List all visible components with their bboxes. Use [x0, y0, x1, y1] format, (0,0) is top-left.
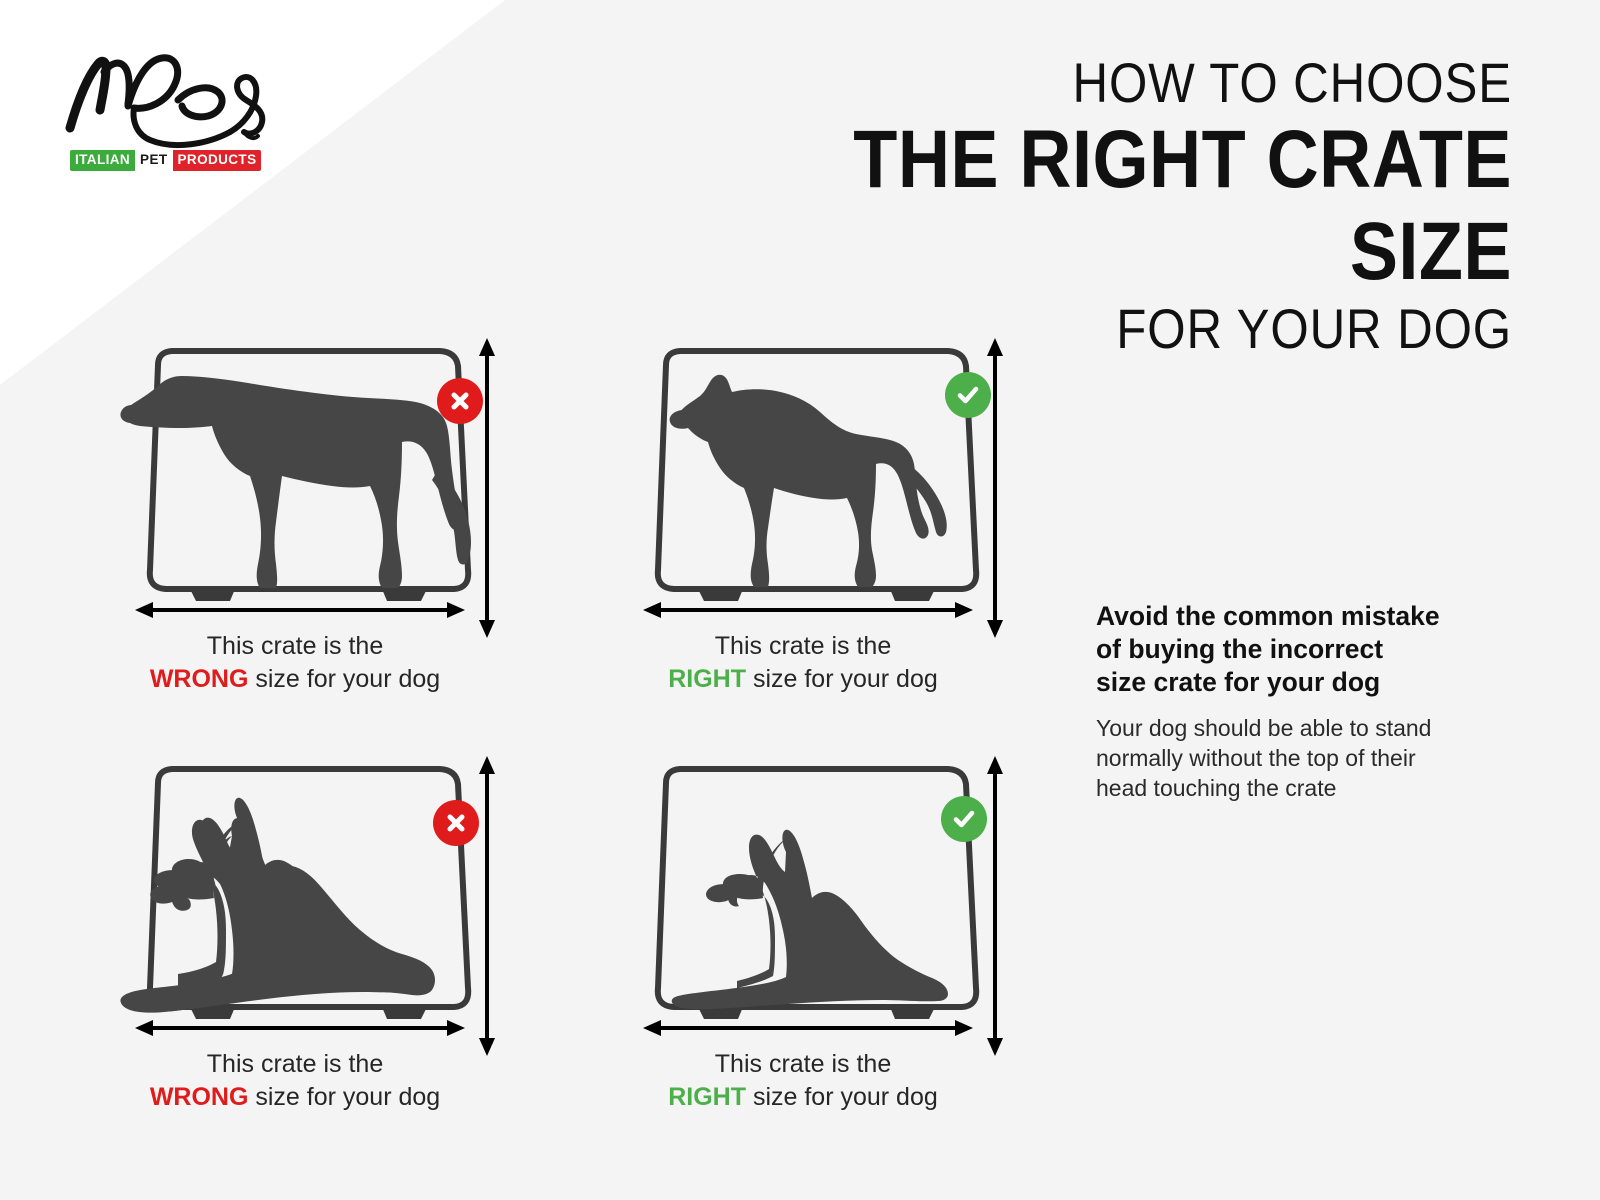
panel-bottom-right: This crate is the RIGHT size for your do…: [628, 748, 1048, 1128]
crate-illustration-bottom-left: [120, 748, 520, 1038]
width-arrow-top-left: [135, 598, 465, 622]
caption-line-1: This crate is the: [207, 632, 383, 660]
info-heading-line-1: Avoid the common mistake: [1096, 601, 1440, 631]
info-block: Avoid the common mistake of buying the i…: [1096, 600, 1526, 803]
dog-silhouette-standing-fits: [670, 375, 947, 587]
caption-bottom-left: This crate is the WRONG size for your do…: [120, 1048, 470, 1114]
crate-illustration-top-left: [120, 330, 520, 620]
caption-rest: size for your dog: [248, 665, 440, 693]
info-body-line-2: normally without the top of their: [1096, 745, 1416, 771]
height-arrow-bottom-left: [475, 756, 499, 1056]
panel-bottom-left: This crate is the WRONG size for your do…: [120, 748, 540, 1128]
height-arrow-bottom-right: [983, 756, 1007, 1056]
info-body-line-1: Your dog should be able to stand: [1096, 715, 1431, 741]
caption-bottom-right: This crate is the RIGHT size for your do…: [628, 1048, 978, 1114]
status-badge-wrong: [433, 800, 479, 846]
caption-emphasis: RIGHT: [668, 665, 746, 693]
caption-rest: size for your dog: [248, 1083, 440, 1111]
status-badge-right: [945, 372, 991, 418]
check-icon: [954, 381, 982, 409]
status-badge-right: [941, 796, 987, 842]
crate-illustration-bottom-right: [628, 748, 1028, 1038]
title-line-1: HOW TO CHOOSE: [702, 52, 1512, 114]
banner-pet: PET: [135, 150, 172, 171]
banner-italian: ITALIAN: [70, 150, 135, 171]
caption-line-1: This crate is the: [207, 1050, 383, 1078]
cross-icon: [443, 810, 469, 836]
dog-silhouette-lying-fits: [672, 830, 948, 1010]
cross-icon: [447, 388, 473, 414]
check-icon: [950, 805, 978, 833]
brand-logo: ITALIAN PET PRODUCTS: [48, 48, 308, 183]
caption-line-1: This crate is the: [715, 632, 891, 660]
height-arrow-top-left: [475, 338, 499, 638]
page-title: HOW TO CHOOSE THE RIGHT CRATE SIZE FOR Y…: [592, 52, 1512, 360]
caption-rest: size for your dog: [746, 1083, 938, 1111]
caption-top-right: This crate is the RIGHT size for your do…: [628, 630, 978, 696]
caption-emphasis: WRONG: [150, 1083, 249, 1111]
width-arrow-bottom-left: [135, 1016, 465, 1040]
info-body-line-3: head touching the crate: [1096, 775, 1336, 801]
caption-emphasis: WRONG: [150, 665, 249, 693]
width-arrow-top-right: [643, 598, 973, 622]
brand-banner: ITALIAN PET PRODUCTS: [70, 150, 261, 171]
title-line-2: THE RIGHT CRATE SIZE: [702, 114, 1512, 298]
caption-rest: size for your dog: [746, 665, 938, 693]
caption-emphasis: RIGHT: [668, 1083, 746, 1111]
dog-silhouette-standing-oversized: [120, 376, 471, 588]
mps-script-mark: [48, 48, 308, 153]
panel-top-right: This crate is the RIGHT size for your do…: [628, 330, 1048, 710]
infographic-page: ITALIAN PET PRODUCTS HOW TO CHOOSE THE R…: [0, 0, 1600, 1200]
banner-products: PRODUCTS: [173, 150, 262, 171]
caption-line-1: This crate is the: [715, 1050, 891, 1078]
info-body: Your dog should be able to stand normall…: [1096, 713, 1526, 803]
dog-silhouette-lying-detail: [121, 798, 429, 1013]
width-arrow-bottom-right: [643, 1016, 973, 1040]
status-badge-wrong: [437, 378, 483, 424]
info-heading-line-2: of buying the incorrect: [1096, 634, 1383, 664]
info-heading: Avoid the common mistake of buying the i…: [1096, 600, 1526, 699]
title-line-3: FOR YOUR DOG: [702, 298, 1512, 360]
caption-top-left: This crate is the WRONG size for your do…: [120, 630, 470, 696]
panel-top-left: This crate is the WRONG size for your do…: [120, 330, 540, 710]
info-heading-line-3: size crate for your dog: [1096, 667, 1380, 697]
